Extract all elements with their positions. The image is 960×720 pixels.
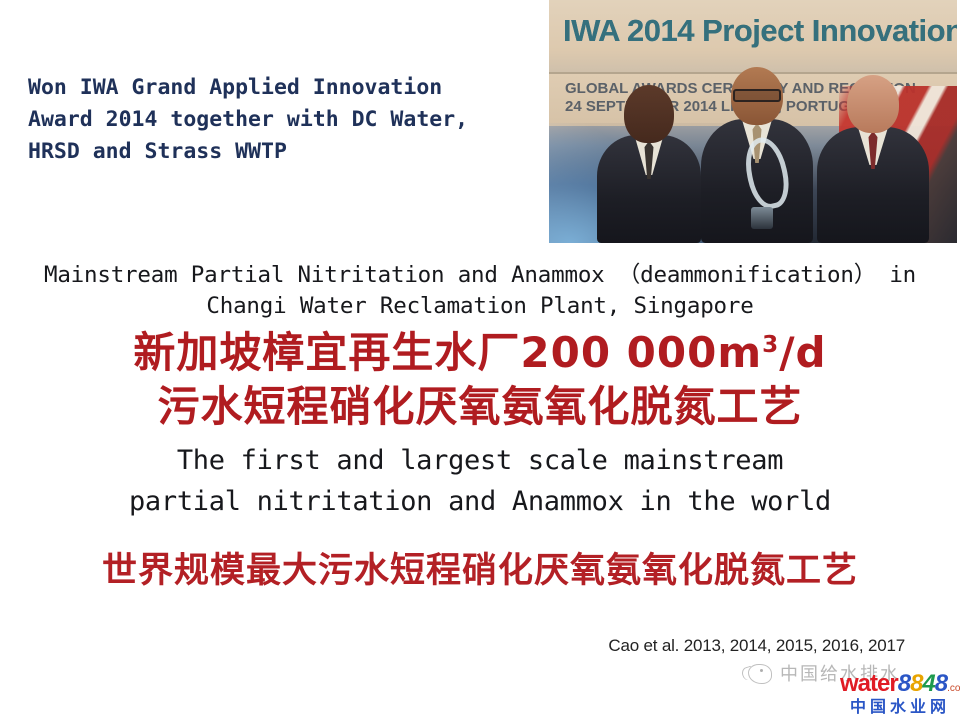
slide-root: Won IWA Grand Applied Innovation Award 2…: [0, 0, 960, 720]
watermark-water8848-wordmark: water8848.com: [840, 672, 960, 696]
title-chinese-line-1: 新加坡樟宜再生水厂200 000m3/d: [0, 326, 960, 380]
watermark-water8848: water8848.com 中国水业网: [840, 672, 960, 715]
watermark-water8848-cn-label: 中国水业网: [840, 699, 960, 715]
watermark-digit-3: 4: [922, 670, 934, 697]
citation-text: Cao et al. 2013, 2014, 2015, 2016, 2017: [0, 636, 905, 656]
person-head: [624, 85, 674, 143]
person-head: [731, 67, 783, 125]
watermark-tld: .com: [947, 683, 960, 694]
mascot-icon: [744, 662, 774, 684]
watermark-word-water: water: [840, 670, 898, 697]
watermark-digit-2: 8: [910, 670, 922, 697]
subtitle-english: Mainstream Partial Nitritation and Anamm…: [0, 260, 960, 322]
person-glasses: [733, 89, 781, 102]
title-chinese-line-2: 污水短程硝化厌氧氨氧化脱氮工艺: [0, 380, 960, 434]
claim-chinese: 世界规模最大污水短程硝化厌氧氨氧化脱氮工艺: [0, 548, 960, 594]
award-caption-text: Won IWA Grand Applied Innovation Award 2…: [28, 72, 528, 168]
photo-banner-title: IWA 2014 Project Innovation: [563, 13, 957, 49]
title-chinese-line-1-prefix: 新加坡樟宜再生水厂200 000m: [133, 328, 762, 377]
watermark-digit-1: 8: [898, 670, 910, 697]
title-chinese-line-1-suffix: /d: [779, 328, 826, 377]
title-chinese-superscript: 3: [762, 332, 779, 358]
mascot-eye-shape: [760, 669, 763, 672]
title-chinese: 新加坡樟宜再生水厂200 000m3/d 污水短程硝化厌氧氨氧化脱氮工艺: [0, 326, 960, 434]
trophy-base: [751, 207, 773, 229]
claim-english: The first and largest scale mainstream p…: [0, 440, 960, 522]
award-ceremony-photo: IWA 2014 Project Innovation GLOBAL AWARD…: [549, 0, 957, 243]
watermark-digit-4: 8: [935, 670, 947, 697]
award-trophy: [745, 137, 779, 229]
person-head: [847, 75, 899, 133]
photo-person-right: [817, 75, 929, 243]
photo-person-left: [597, 83, 701, 243]
